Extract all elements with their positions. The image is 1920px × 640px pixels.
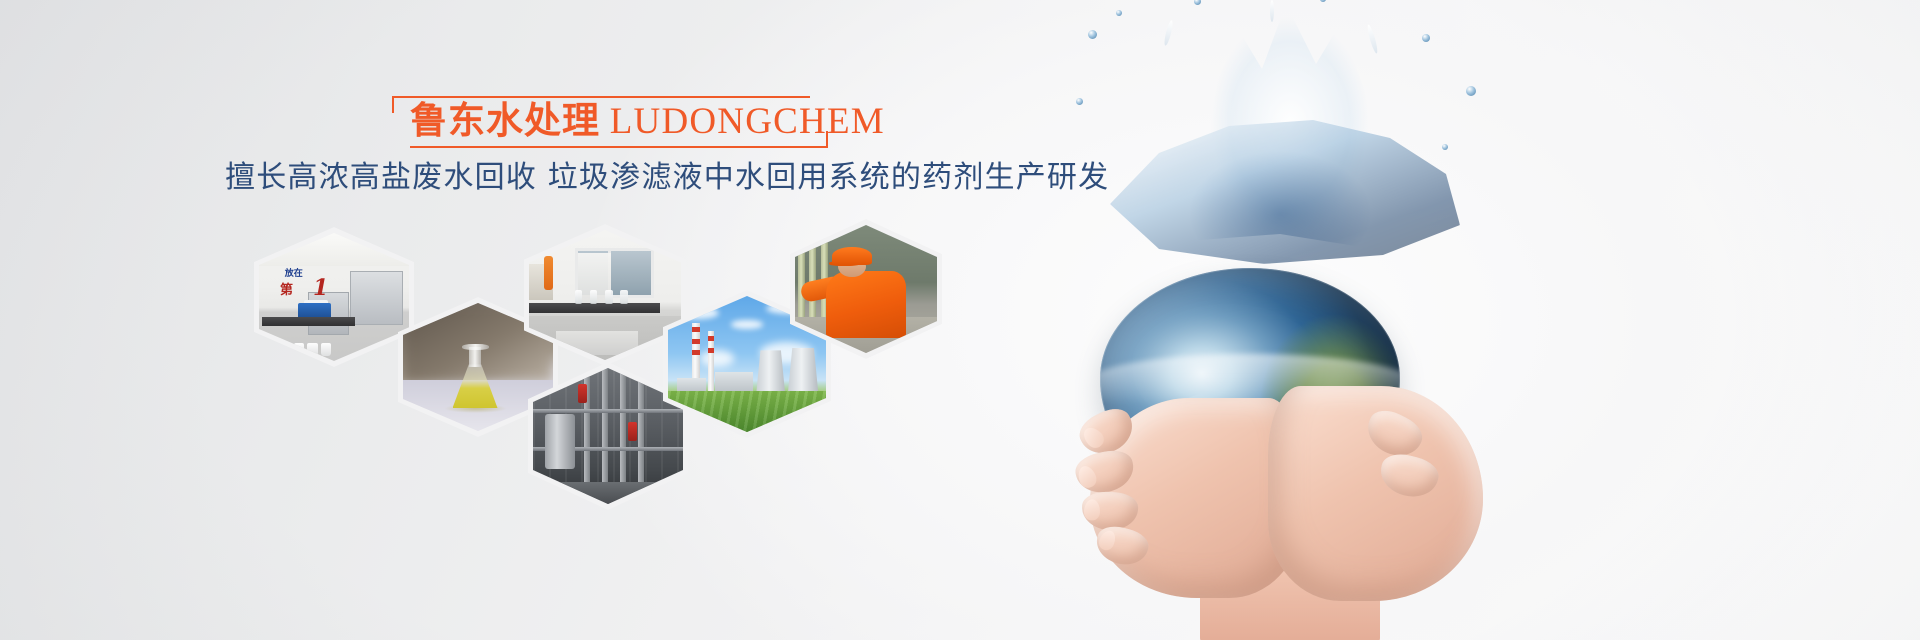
banner-title: 鲁东水处理 LUDONGCHEM [392,96,824,148]
banner-subtitle: 擅长高浓高盐废水回收 垃圾渗滤液中水回用系统的药剂生产研发 [225,158,1109,198]
banner-text-block: 鲁东水处理 LUDONGCHEM 擅长高浓高盐废水回收 垃圾渗滤液中水回用系统的… [0,96,1190,148]
bracket-bottom-line [410,146,828,148]
fingernail [1097,528,1119,552]
wall-slogan-main: 第 [280,279,292,298]
fingernail [1084,499,1101,521]
wall-slogan-top: 放在 [285,266,303,279]
wall-slogan: 放在 第 1 [280,266,340,294]
banner-title-text: 鲁东水处理 LUDONGCHEM [410,98,885,146]
bracket-left-line [392,96,394,113]
cupped-hands [1050,352,1480,640]
wall-slogan-number: 1 [313,275,328,301]
hex-photo-laboratory-room[interactable]: 放在 第 1 [254,227,414,367]
banner-title-en: LUDONGCHEM [610,101,885,142]
fingernail [1075,464,1098,490]
banner-title-cn: 鲁东水处理 [410,101,600,142]
hero-banner: 鲁东水处理 LUDONGCHEM 擅长高浓高盐废水回收 垃圾渗滤液中水回用系统的… [0,0,1920,640]
fingernail [1080,424,1108,452]
